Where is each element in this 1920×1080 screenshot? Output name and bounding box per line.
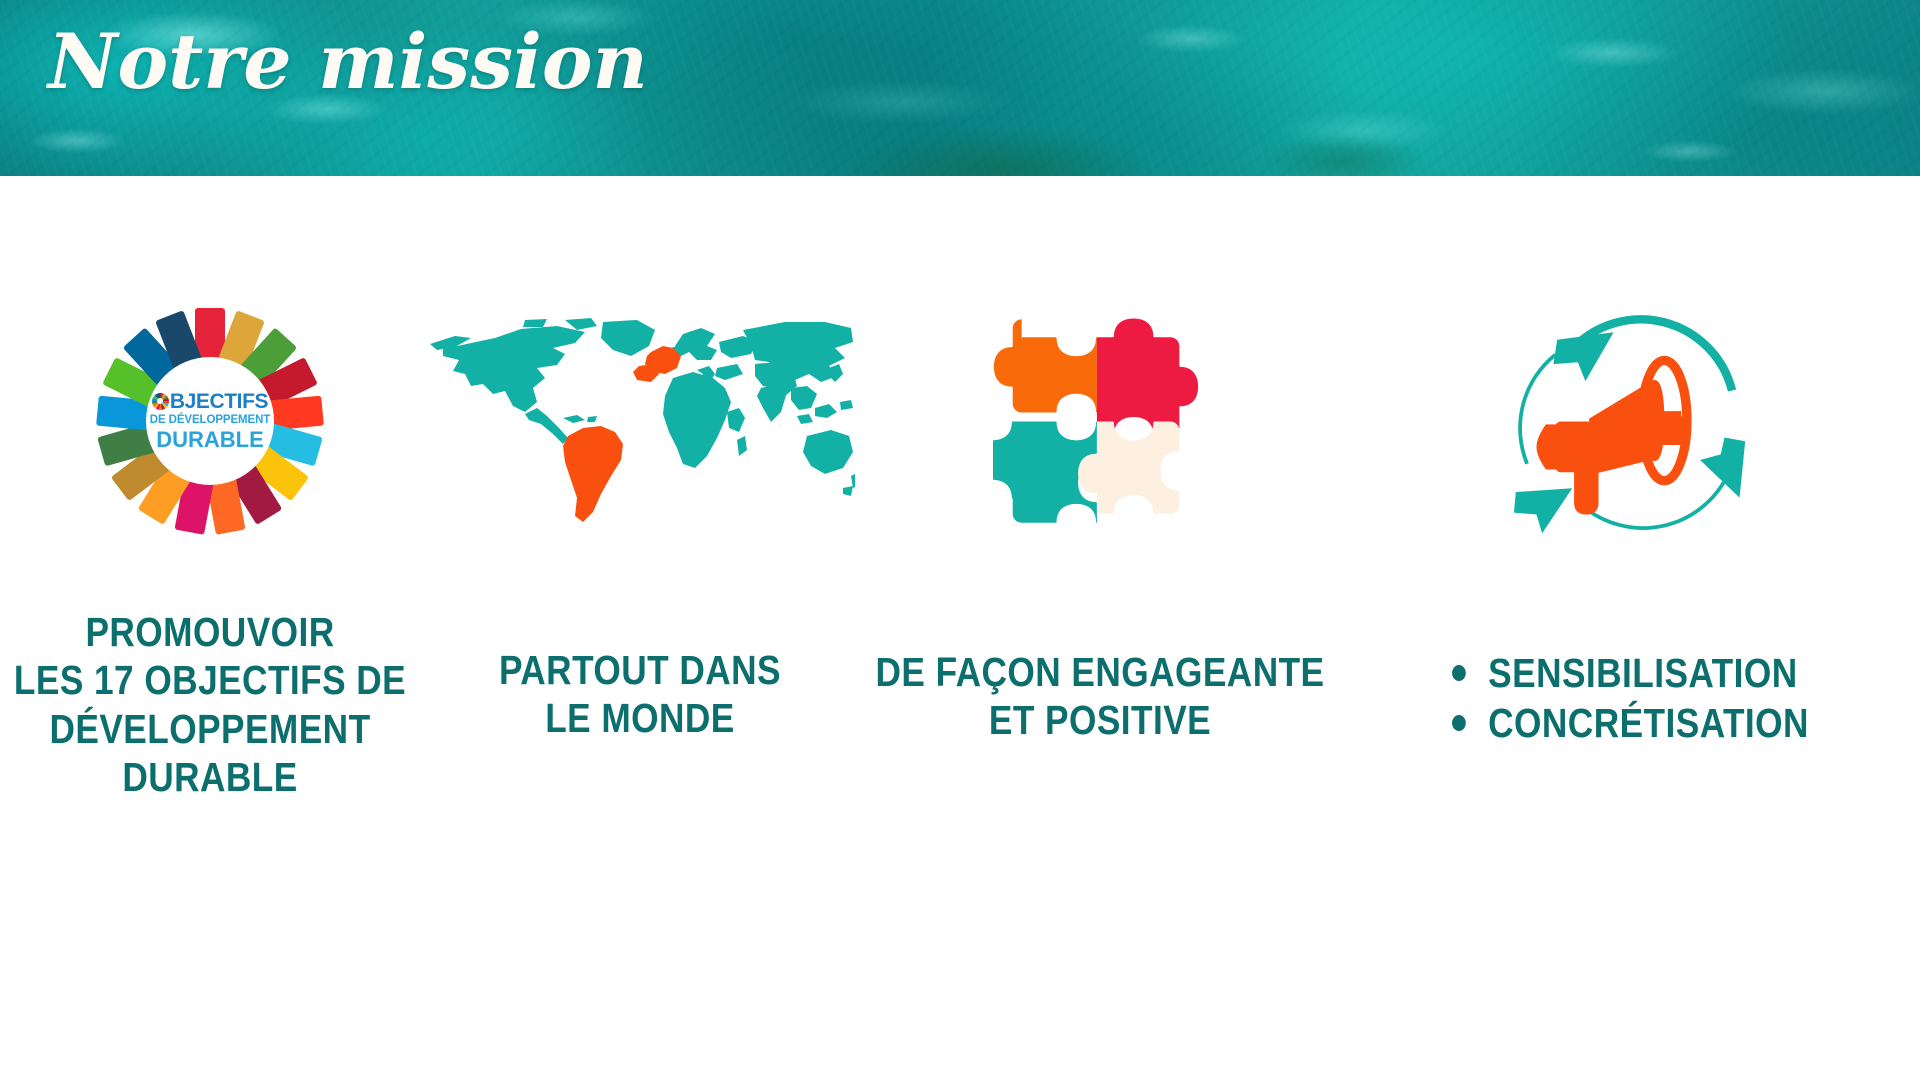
bullet-label: SENSIBILISATION [1488,648,1797,698]
caption-line: PARTOUT DANS [499,646,781,694]
caption-line: DÉVELOPPEMENT [14,705,406,753]
mission-caption-partout: PARTOUT DANS LE MONDE [499,646,781,743]
icon-slot [425,286,855,556]
caption-line: DURABLE [14,753,406,801]
sdg-logo-line1-text: BJECTIFS [170,391,268,412]
mission-bullet-list: SENSIBILISATION CONCRÉTISATION [1452,648,1809,748]
sdg-logo-line-developpement: DE DÉVELOPPEMENT [150,415,270,427]
puzzle-piece-top-left [993,319,1096,412]
caption-line: PROMOUVOIR [14,608,406,656]
caption-line: LE MONDE [499,694,781,742]
mission-column-sensibilisation: SENSIBILISATION CONCRÉTISATION [1340,286,1920,802]
mission-column-promouvoir: BJECTIFS DE DÉVELOPPEMENT DURABLE PROMOU… [0,286,420,802]
arrow-head-bottom [1513,488,1571,533]
bullet-dot-icon [1452,665,1466,681]
icon-slot [1493,286,1768,556]
puzzle-piece-top-right [1096,318,1197,435]
megaphone-nozzle-icon [1676,415,1689,439]
mission-columns: BJECTIFS DE DÉVELOPPEMENT DURABLE PROMOU… [0,176,1920,1080]
sdg-mini-wheel-icon [152,393,169,410]
caption-line: ET POSITIVE [876,696,1325,744]
bullet-label: CONCRÉTISATION [1488,698,1809,748]
arrow-head-right [1700,437,1745,497]
caption-line: DE FAÇON ENGAGEANTE [876,648,1325,696]
list-item: SENSIBILISATION [1452,648,1809,698]
list-item: CONCRÉTISATION [1452,698,1809,748]
world-map-icon [425,316,855,526]
sdg-logo-line-durable: DURABLE [156,429,264,451]
icon-slot [993,286,1208,556]
mission-column-partout-dans-le-monde: PARTOUT DANS LE MONDE [420,286,860,802]
sdg-logo-center: BJECTIFS DE DÉVELOPPEMENT DURABLE [146,357,274,485]
arrow-head-top [1553,332,1613,381]
bullet-dot-icon [1452,715,1466,731]
sdg-logo-line-objectifs: BJECTIFS [152,391,268,412]
header-banner: Notre mission [0,0,1920,176]
mission-column-facon-engageante: DE FAÇON ENGAGEANTE ET POSITIVE [860,286,1340,802]
page-title: Notre mission [48,24,648,100]
sdg-wheel-icon: BJECTIFS DE DÉVELOPPEMENT DURABLE [97,308,323,534]
megaphone-recycle-icon [1493,304,1768,539]
mission-caption-promouvoir: PROMOUVOIR LES 17 OBJECTIFS DE DÉVELOPPE… [14,608,406,802]
world-map-highlight [563,346,681,522]
puzzle-pieces-icon [993,314,1208,529]
caption-line: LES 17 OBJECTIFS DE [14,656,406,704]
mission-caption-facon-engageante: DE FAÇON ENGAGEANTE ET POSITIVE [876,648,1325,745]
icon-slot: BJECTIFS DE DÉVELOPPEMENT DURABLE [97,286,323,556]
